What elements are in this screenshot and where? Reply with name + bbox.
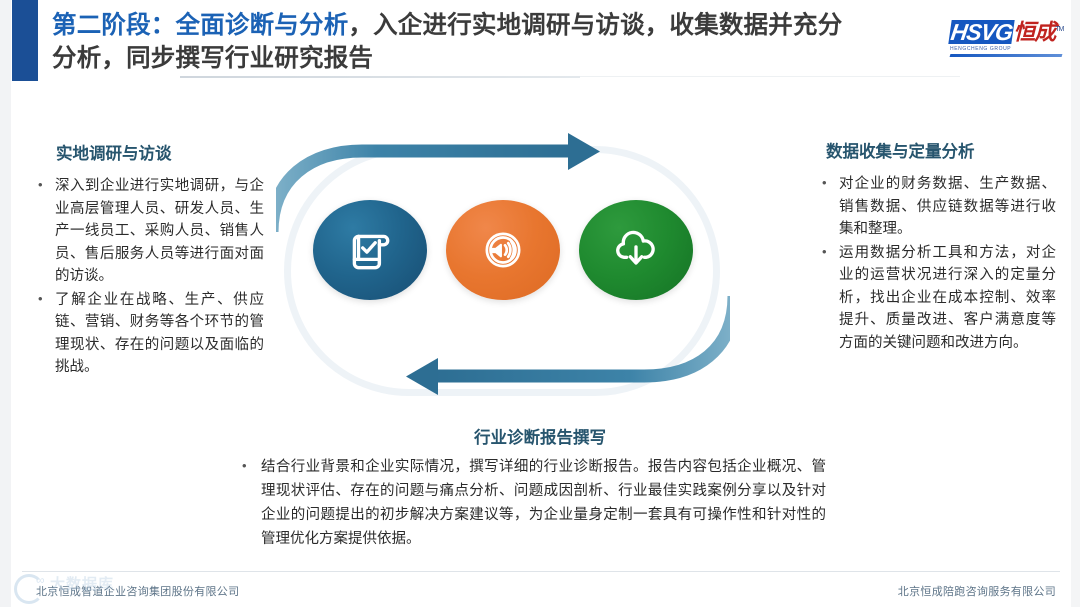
- bottom-section: 结合行业背景和企业实际情况，撰写详细的行业诊断报告。报告内容包括企业概况、管理现…: [236, 455, 826, 552]
- bottom-section-heading: 行业诊断报告撰写: [0, 424, 1080, 448]
- footer-left-company: 北京恒成智道企业咨询集团股份有限公司: [36, 583, 239, 599]
- slide-header: 第二阶段：全面诊断与分析，入企进行实地调研与访谈，收集数据并充分 分析，同步撰写…: [52, 9, 932, 75]
- company-logo: HSVG恒成TM HENGCHENG GROUP: [950, 18, 1062, 58]
- list-item: 深入到企业进行实地调研，与企业高层管理人员、研发人员、生产一线员工、采购人员、销…: [34, 175, 264, 288]
- slide-canvas: 第二阶段：全面诊断与分析，入企进行实地调研与访谈，收集数据并充分 分析，同步撰写…: [0, 0, 1080, 607]
- right-column-heading: 数据收集与定量分析: [818, 141, 1056, 163]
- right-column-bullets: 对企业的财务数据、生产数据、销售数据、供应链数据等进行收集和整理。 运用数据分析…: [818, 173, 1056, 354]
- list-item: 运用数据分析工具和方法，对企业的运营状况进行深入的定量分析，找出企业在成本控制、…: [818, 242, 1056, 355]
- logo-tm-mark: TM: [1055, 26, 1063, 33]
- logo-wordmark: HSVG恒成TM: [950, 18, 1062, 45]
- arrow-backward-icon: [406, 296, 730, 395]
- page-title-line-2: 分析，同步撰写行业研究报告: [52, 42, 932, 75]
- title-divider-tail: [580, 76, 960, 77]
- list-item: 对企业的财务数据、生产数据、销售数据、供应链数据等进行收集和整理。: [818, 173, 1056, 241]
- data-node[interactable]: [579, 200, 693, 300]
- cloud-download-icon: [611, 225, 661, 275]
- left-column-bullets: 深入到企业进行实地调研，与企业高层管理人员、研发人员、生产一线员工、采购人员、销…: [34, 175, 264, 379]
- scroll-check-icon: [345, 225, 395, 275]
- right-column: 数据收集与定量分析 对企业的财务数据、生产数据、销售数据、供应链数据等进行收集和…: [818, 141, 1056, 355]
- survey-node[interactable]: [313, 200, 427, 300]
- footer-right-company: 北京恒成陪跑咨询服务有限公司: [898, 583, 1056, 599]
- bottom-section-bullets: 结合行业背景和企业实际情况，撰写详细的行业诊断报告。报告内容包括企业概况、管理现…: [236, 455, 826, 551]
- title-divider: [180, 76, 580, 78]
- page-title-highlight: 第二阶段：全面诊断与分析: [52, 12, 348, 39]
- page-title-line-1: 第二阶段：全面诊断与分析，入企进行实地调研与访谈，收集数据并充分: [52, 9, 932, 42]
- diagram-node-row: [276, 200, 730, 300]
- logo-subtitle: HENGCHENG GROUP: [950, 46, 1062, 52]
- logo-underline-bar: [950, 54, 1063, 57]
- logo-mark-text: HSVG: [948, 20, 1015, 44]
- footer-divider: [22, 571, 1060, 572]
- left-column: 实地调研与访谈 深入到企业进行实地调研，与企业高层管理人员、研发人员、生产一线员…: [34, 143, 264, 380]
- left-edge-strip: [0, 0, 11, 607]
- left-column-heading: 实地调研与访谈: [34, 143, 264, 165]
- page-title-rest: ，入企进行实地调研与访谈，收集数据并充分: [348, 12, 842, 39]
- right-edge-strip: [1071, 0, 1080, 607]
- speaker-sound-icon: [478, 225, 528, 275]
- logo-cn-text: 恒成: [1013, 20, 1055, 45]
- list-item: 了解企业在战略、生产、供应链、营销、财务等各个环节的管理现状、存在的问题以及面临…: [34, 289, 264, 379]
- process-loop-diagram: [276, 124, 730, 414]
- list-item: 结合行业背景和企业实际情况，撰写详细的行业诊断报告。报告内容包括企业概况、管理现…: [236, 455, 826, 551]
- interview-node[interactable]: [446, 200, 560, 300]
- header-accent-bar: [12, 0, 38, 81]
